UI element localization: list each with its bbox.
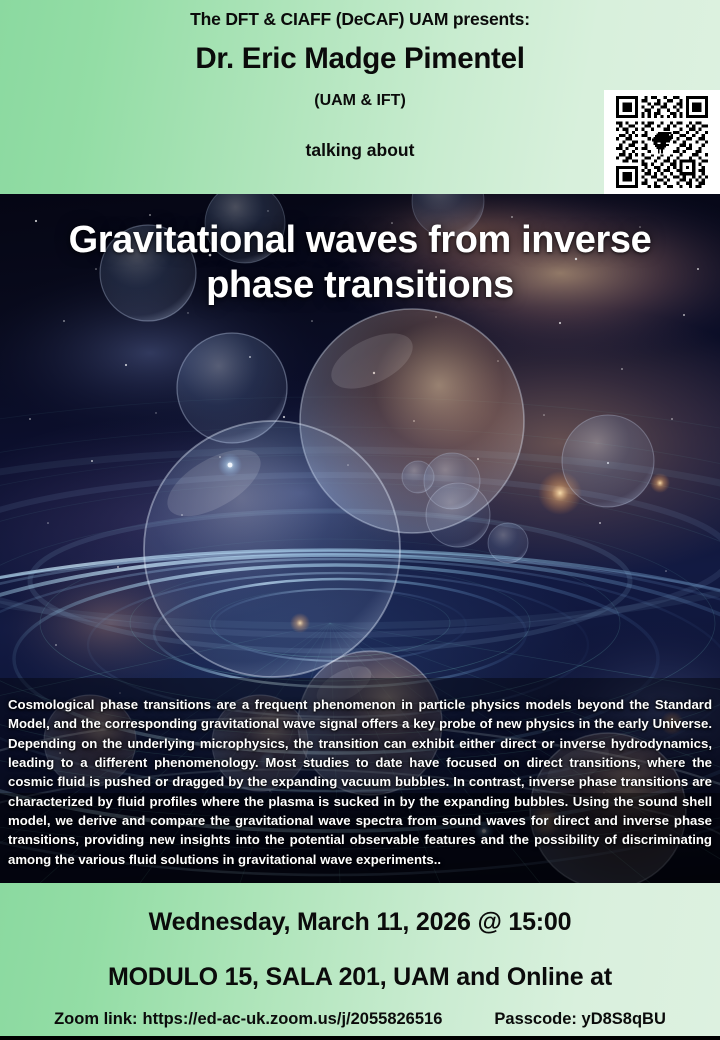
talk-title: Gravitational waves from inverse phase t…: [0, 218, 720, 308]
zoom-link-label: Zoom link:: [54, 1010, 137, 1028]
qr-code[interactable]: [604, 90, 720, 194]
qr-code-svg: [613, 96, 711, 188]
talk-abstract: Cosmological phase transitions are a fre…: [0, 695, 720, 869]
organizer-line: The DFT & CIAFF (DeCAF) UAM presents:: [0, 9, 720, 30]
zoom-link-group[interactable]: Zoom link:https://ed-ac-uk.zoom.us/j/205…: [54, 1010, 442, 1029]
poster-footer: Wednesday, March 11, 2026 @ 15:00 MODULO…: [0, 883, 720, 1036]
poster-header: The DFT & CIAFF (DeCAF) UAM presents: Dr…: [0, 0, 720, 194]
bottom-border: [0, 1036, 720, 1040]
zoom-link-url[interactable]: https://ed-ac-uk.zoom.us/j/2055826516: [143, 1010, 443, 1028]
speaker-name: Dr. Eric Madge Pimentel: [0, 42, 720, 76]
qr-code-inner: [613, 96, 711, 188]
event-datetime: Wednesday, March 11, 2026 @ 15:00: [0, 908, 720, 937]
online-access-row: Zoom link:https://ed-ac-uk.zoom.us/j/205…: [0, 1010, 720, 1029]
event-venue: MODULO 15, SALA 201, UAM and Online at: [0, 963, 720, 992]
zoom-passcode: Passcode: yD8S8qBU: [494, 1010, 666, 1029]
seminar-poster: Gravitational waves from inverse phase t…: [0, 0, 720, 1040]
dinosaur-icon: [651, 131, 673, 155]
